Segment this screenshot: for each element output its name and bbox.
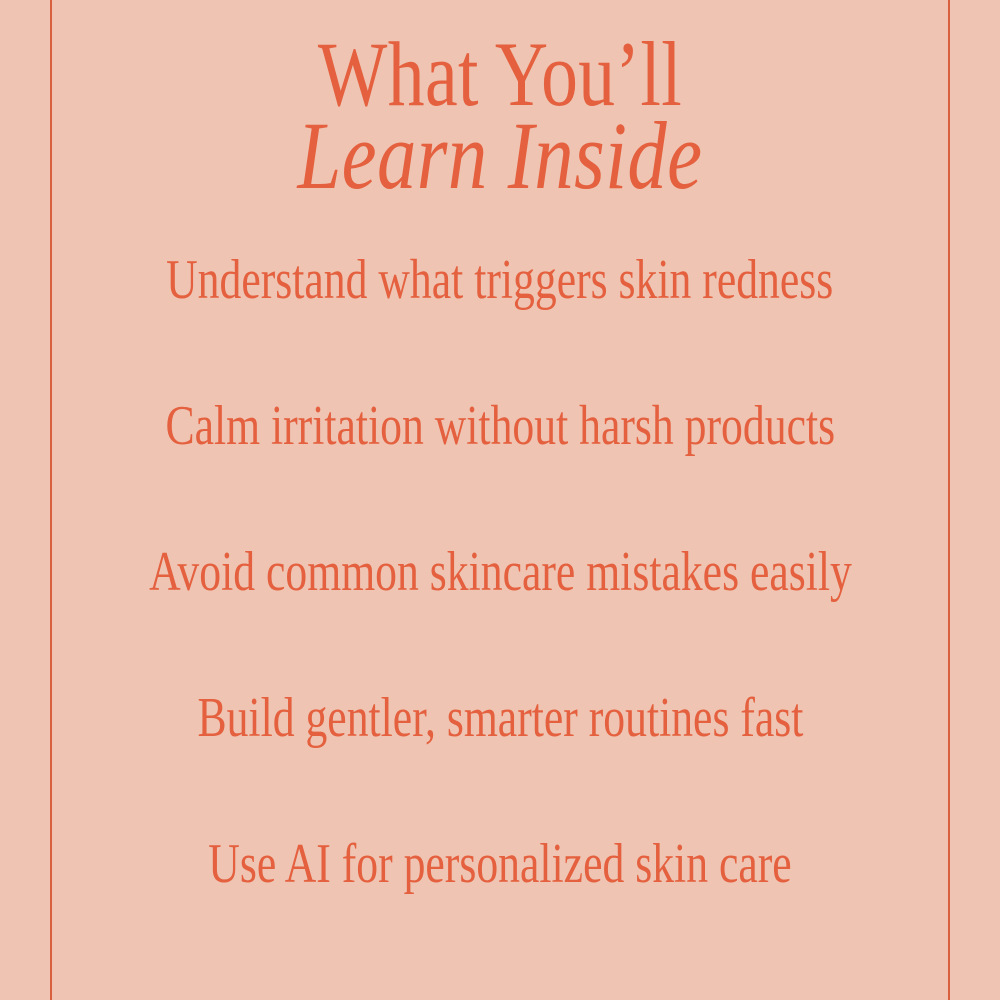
list-item: Use AI for personalized skin care (52, 836, 948, 982)
benefit-text: Avoid common skincare mistakes easily (149, 544, 852, 600)
right-vertical-rule (948, 0, 950, 1000)
page-title: What You’ll Learn Inside (52, 30, 948, 201)
benefit-list: Understand what triggers skin redness Ca… (52, 252, 948, 982)
poster-canvas: What You’ll Learn Inside Understand what… (0, 0, 1000, 1000)
list-item: Understand what triggers skin redness (52, 252, 948, 398)
list-item: Calm irritation without harsh products (52, 398, 948, 544)
content-column: What You’ll Learn Inside Understand what… (52, 0, 948, 1000)
list-item: Avoid common skincare mistakes easily (52, 544, 948, 690)
benefit-text: Use AI for personalized skin care (208, 836, 791, 892)
benefit-text: Build gentler, smarter routines fast (197, 690, 803, 746)
benefit-text: Calm irritation without harsh products (165, 398, 835, 454)
page-title-line-2: Learn Inside (133, 112, 868, 200)
list-item: Build gentler, smarter routines fast (52, 690, 948, 836)
benefit-text: Understand what triggers skin redness (166, 252, 833, 308)
